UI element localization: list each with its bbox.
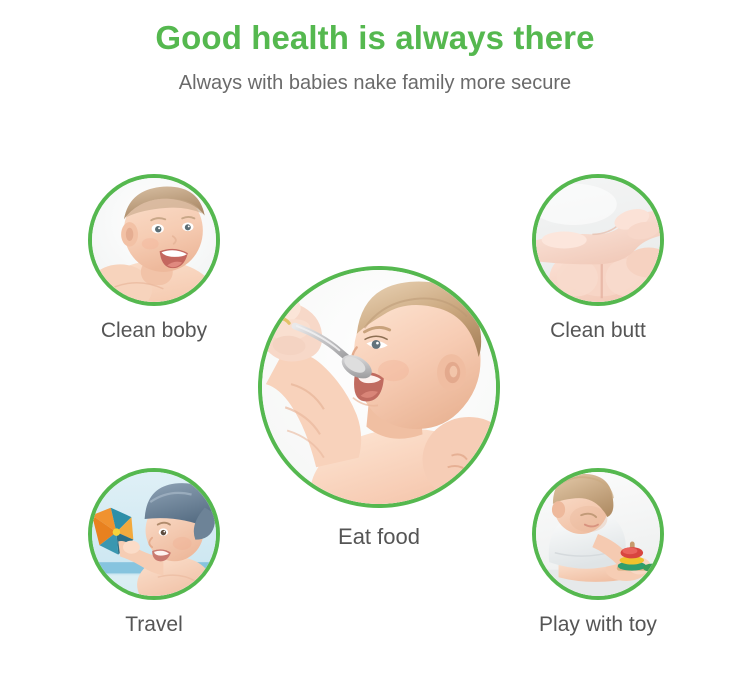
feature-item-eat-food[interactable]: Eat food — [258, 266, 500, 550]
feature-image-circle-play-toy[interactable] — [532, 468, 664, 600]
feature-image-circle-travel[interactable] — [88, 468, 220, 600]
feature-label-travel: Travel — [88, 612, 220, 638]
feature-label-clean-butt: Clean butt — [532, 318, 664, 344]
feature-label-clean-body: Clean boby — [88, 318, 220, 344]
feature-item-play-toy[interactable]: Play with toy — [532, 468, 664, 638]
baby-being-spoon-fed-photo — [262, 270, 496, 504]
heading-block: Good health is always there Always with … — [0, 16, 750, 98]
feature-item-travel[interactable]: Travel — [88, 468, 220, 638]
page-title: Good health is always there — [0, 16, 750, 60]
feature-label-eat-food: Eat food — [258, 524, 500, 550]
baby-playing-with-wooden-stacking-toy-photo — [536, 472, 660, 596]
hand-wiping-baby-bottom-photo — [536, 178, 660, 302]
baby-in-sun-hat-with-pinwheel-at-beach-photo — [92, 472, 216, 596]
feature-image-circle-clean-butt[interactable] — [532, 174, 664, 306]
feature-image-circle-eat-food[interactable] — [258, 266, 500, 508]
feature-item-clean-body[interactable]: Clean boby — [88, 174, 220, 344]
promo-banner: Good health is always there Always with … — [0, 0, 750, 686]
feature-image-circle-clean-body[interactable] — [88, 174, 220, 306]
page-subtitle: Always with babies nake family more secu… — [0, 68, 750, 98]
feature-label-play-toy: Play with toy — [532, 612, 664, 638]
feature-item-clean-butt[interactable]: Clean butt — [532, 174, 664, 344]
smiling-baby-photo — [92, 178, 216, 302]
